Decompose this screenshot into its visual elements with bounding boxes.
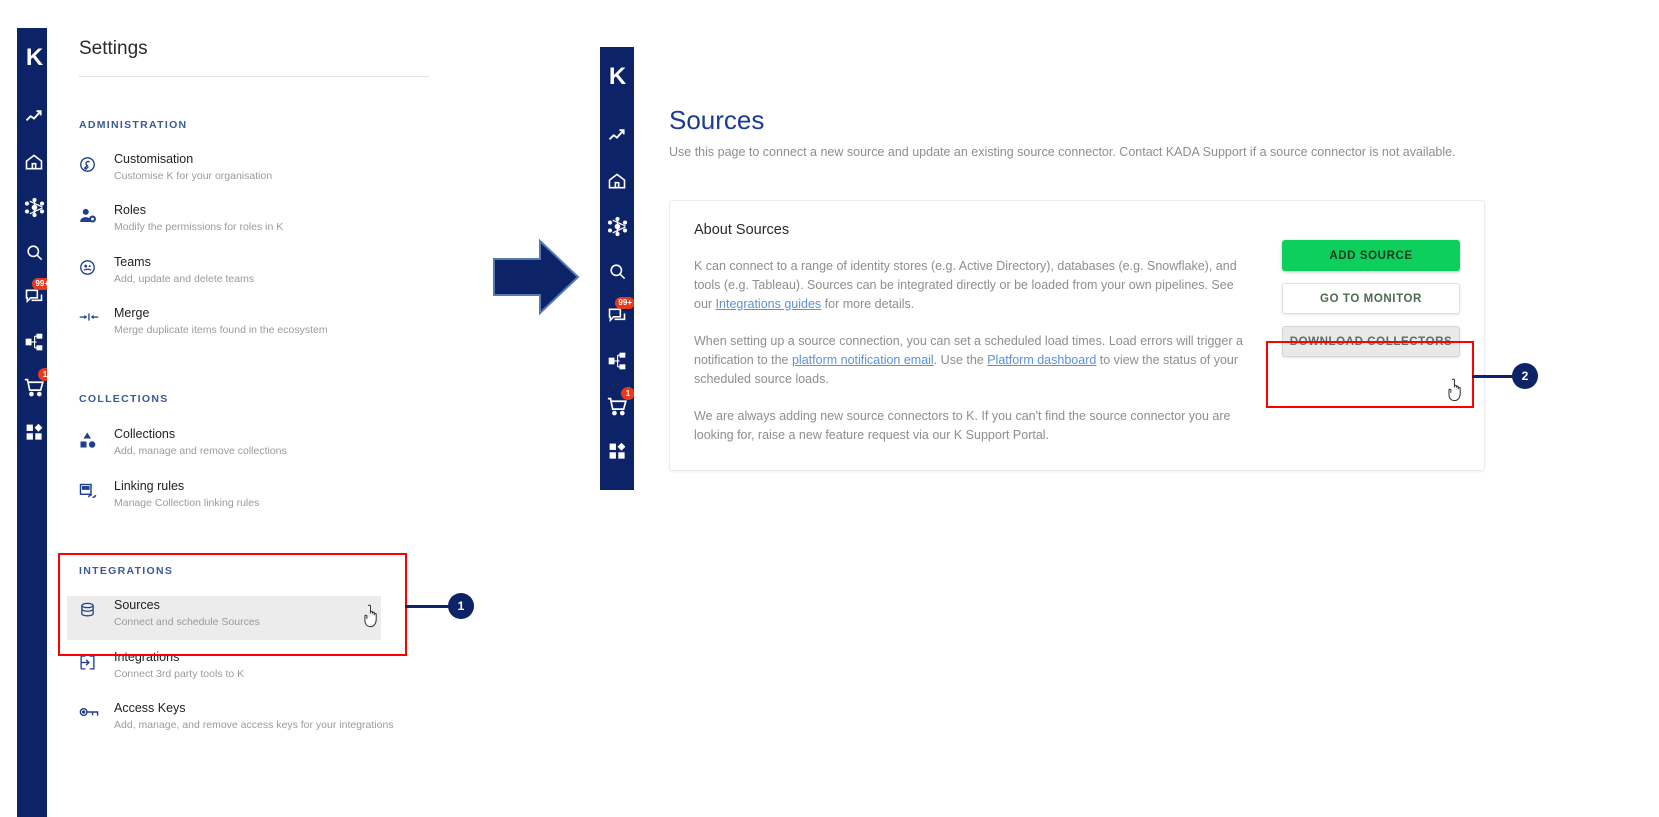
right-navigation-rail: K [600, 47, 634, 490]
rail-item-conversations[interactable]: 99+ [17, 280, 51, 314]
rail2-item-sitemap[interactable] [600, 344, 634, 378]
search-icon [608, 262, 627, 281]
rail2-item-conversations[interactable]: 99+ [600, 299, 634, 333]
rail2-item-cart[interactable]: 1 [600, 389, 634, 423]
rail-item-home[interactable] [17, 145, 51, 179]
rail-item-apps[interactable] [17, 415, 51, 449]
about-paragraph-3: We are always adding new source connecto… [694, 407, 1254, 445]
menu-subtitle: Add, manage and remove collections [114, 444, 287, 459]
section-heading-collections: COLLECTIONS [79, 393, 169, 405]
go-to-monitor-button[interactable]: GO TO MONITOR [1282, 283, 1460, 314]
menu-row-customisation[interactable]: Customisation Customise K for your organ… [67, 150, 381, 194]
menu-row-access-keys[interactable]: Access Keys Add, manage, and remove acce… [67, 699, 487, 743]
menu-subtitle: Modify the permissions for roles in K [114, 220, 283, 235]
menu-row-roles[interactable]: Roles Modify the permissions for roles i… [67, 201, 381, 245]
trending-up-icon [607, 126, 627, 146]
search-icon [25, 243, 44, 262]
rail-item-network[interactable] [17, 190, 51, 224]
left-navigation-rail: K [17, 28, 51, 817]
grid-apps-icon [25, 423, 44, 442]
menu-row-teams[interactable]: Teams Add, update and delete teams [67, 253, 381, 297]
about-card-title: About Sources [694, 222, 789, 238]
shapes-icon [79, 427, 105, 454]
inline-link[interactable]: platform notification email [792, 353, 934, 367]
annotation-line-1 [405, 605, 453, 608]
kada-logo[interactable]: K [26, 46, 42, 70]
menu-title: Access Keys [114, 701, 394, 716]
kada-logo-secondary[interactable]: K [609, 65, 625, 89]
person-gear-icon [79, 203, 105, 230]
chat-bubble-icon [607, 306, 627, 326]
rail2-item-network[interactable] [600, 209, 634, 243]
rail-item-sitemap[interactable] [17, 325, 51, 359]
rail2-item-search[interactable] [600, 254, 634, 288]
cart-badge: 1 [621, 387, 635, 400]
about-paragraph-2: When setting up a source connection, you… [694, 332, 1254, 389]
rail2-item-trending-up[interactable] [600, 119, 634, 153]
menu-row-linking-rules[interactable]: Linking rules Manage Collection linking … [67, 477, 381, 521]
flow-arrow-icon [490, 237, 582, 317]
sources-page: Sources Use this page to connect a new s… [634, 47, 1659, 817]
about-paragraph-1: K can connect to a range of identity sto… [694, 257, 1254, 314]
menu-subtitle: Customise K for your organisation [114, 169, 272, 184]
highlight-box-sources-menu [58, 553, 407, 656]
network-nodes-icon [24, 197, 45, 218]
title-divider [79, 76, 429, 77]
rail2-item-apps[interactable] [600, 434, 634, 468]
teams-circle-icon [79, 255, 105, 281]
menu-subtitle: Add, manage, and remove access keys for … [114, 718, 394, 733]
wrench-circle-icon [79, 152, 105, 178]
screenshot-canvas: K [0, 0, 1659, 817]
annotation-marker-2: 2 [1512, 363, 1538, 389]
inline-link[interactable]: Platform dashboard [987, 353, 1096, 367]
add-source-button[interactable]: ADD SOURCE [1282, 240, 1460, 271]
network-nodes-icon [607, 216, 628, 237]
rail-item-search[interactable] [17, 235, 51, 269]
highlight-box-download-collectors [1266, 341, 1474, 408]
linking-rules-icon [79, 479, 105, 506]
annotation-marker-1: 1 [448, 593, 474, 619]
menu-title: Customisation [114, 152, 272, 167]
trending-up-icon [24, 107, 44, 127]
key-icon [79, 701, 105, 724]
merge-arrows-icon [79, 306, 105, 329]
sitemap-icon [607, 351, 627, 371]
menu-row-collections[interactable]: Collections Add, manage and remove colle… [67, 425, 381, 469]
rail-item-trending-up[interactable] [17, 100, 51, 134]
menu-subtitle: Connect 3rd party tools to K [114, 667, 244, 682]
menu-subtitle: Merge duplicate items found in the ecosy… [114, 323, 328, 338]
home-icon [607, 171, 627, 191]
inline-link[interactable]: Integrations guides [716, 297, 822, 311]
rail-item-cart[interactable]: 1 [17, 370, 51, 404]
rail2-item-home[interactable] [600, 164, 634, 198]
grid-apps-icon [608, 442, 627, 461]
section-heading-administration: ADMINISTRATION [79, 119, 187, 131]
annotation-line-2 [1472, 375, 1514, 378]
menu-title: Teams [114, 255, 254, 270]
page-title: Settings [79, 38, 148, 60]
menu-subtitle: Add, update and delete teams [114, 272, 254, 287]
chat-bubble-icon [24, 287, 44, 307]
menu-title: Linking rules [114, 479, 259, 494]
menu-title: Collections [114, 427, 287, 442]
about-sources-card: About Sources K can connect to a range o… [669, 200, 1485, 471]
menu-title: Roles [114, 203, 283, 218]
settings-panel: Settings ADMINISTRATION Customisation Cu… [47, 0, 599, 817]
sources-page-description: Use this page to connect a new source an… [669, 143, 1459, 162]
conversations-badge: 99+ [615, 297, 635, 309]
sources-page-title: Sources [669, 105, 764, 136]
menu-title: Merge [114, 306, 328, 321]
menu-subtitle: Manage Collection linking rules [114, 496, 259, 511]
menu-row-merge[interactable]: Merge Merge duplicate items found in the… [67, 304, 381, 348]
home-icon [24, 152, 44, 172]
sitemap-icon [24, 332, 44, 352]
